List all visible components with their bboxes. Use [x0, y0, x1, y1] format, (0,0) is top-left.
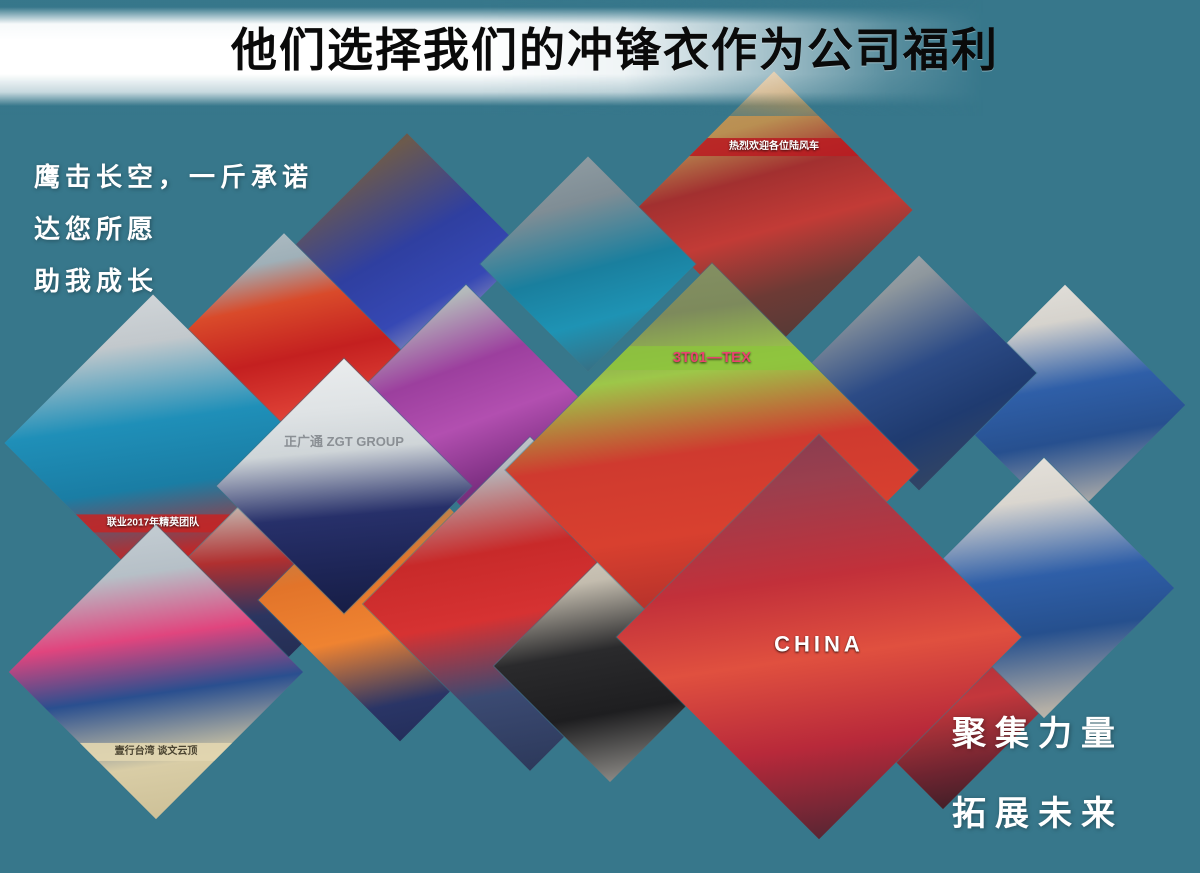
left-slogan-line-3: 助我成长 — [34, 256, 313, 308]
photo-caption — [914, 371, 924, 375]
left-slogan-line-1: 鹰击长空，一斤承诺 — [34, 152, 313, 204]
right-slogan-line-2: 拓展未来 — [952, 774, 1124, 854]
photo-caption — [605, 664, 615, 668]
right-slogan: 聚集力量 拓展未来 — [952, 694, 1124, 854]
photo-caption — [1060, 403, 1070, 407]
photo-caption — [525, 602, 535, 606]
photo-caption — [402, 250, 412, 254]
photo-caption — [279, 350, 289, 354]
left-slogan-line-2: 达您所愿 — [34, 204, 313, 256]
photo-caption — [583, 262, 593, 266]
right-slogan-line-1: 聚集力量 — [952, 694, 1124, 774]
photo-caption: 壹行台湾 谈文云顶 — [17, 743, 295, 761]
left-slogan: 鹰击长空，一斤承诺 达您所愿 助我成长 — [34, 152, 313, 308]
photo-caption: CHINA — [628, 628, 1011, 660]
photo-caption — [461, 396, 471, 400]
photo-caption: 热烈欢迎各位陆风车 — [643, 139, 905, 157]
photo-caption — [1039, 586, 1049, 590]
poster-canvas: 热烈欢迎各位陆风车 3T01—TEX — [0, 0, 1200, 873]
